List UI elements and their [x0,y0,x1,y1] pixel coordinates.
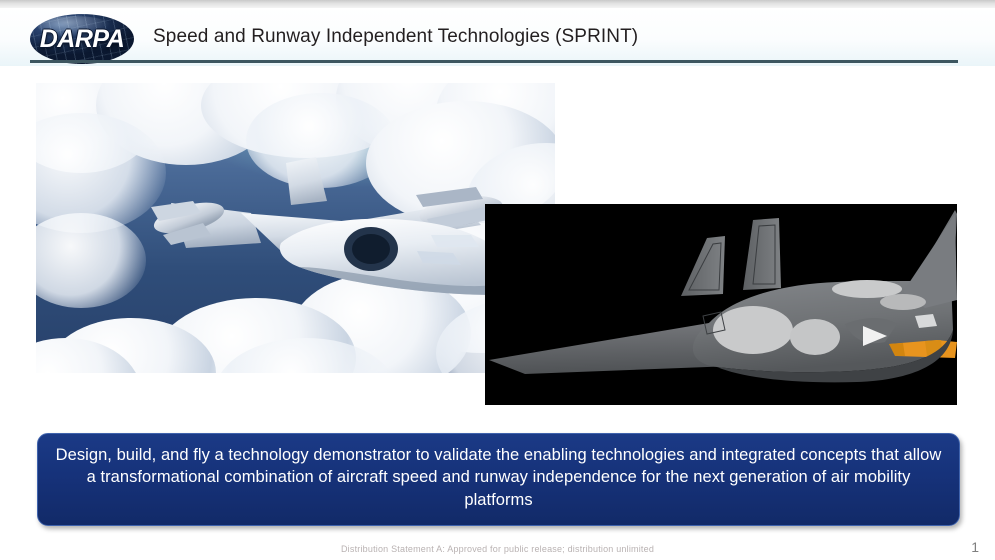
darpa-wordmark: DARPA [30,14,134,64]
slide-canvas: DARPA Speed and Runway Independent Techn… [0,8,995,560]
objective-banner: Design, build, and fly a technology demo… [37,433,960,526]
header-divider [30,60,958,63]
darpa-logo: DARPA [30,14,134,64]
starboard-wing [903,214,957,308]
cad-aircraft-illustration [485,204,957,405]
objective-text: Design, build, and fly a technology demo… [52,444,945,512]
lift-fan-door [880,294,926,310]
lift-fan [790,319,840,355]
distribution-statement: Distribution Statement A: Approved for p… [0,544,995,554]
cad-model-image [485,204,957,405]
flight-concept-image [36,83,555,373]
slide-header: DARPA Speed and Runway Independent Techn… [0,8,995,66]
engine-inlet-core [352,234,390,264]
vertical-tail [286,157,327,205]
vertical-tail-left [681,236,725,296]
concept-aircraft-illustration [131,143,531,343]
viewer-top-strip [0,0,995,8]
page-number: 1 [971,539,979,555]
cockpit-window [431,235,479,247]
page-title: Speed and Runway Independent Technologie… [153,26,638,48]
